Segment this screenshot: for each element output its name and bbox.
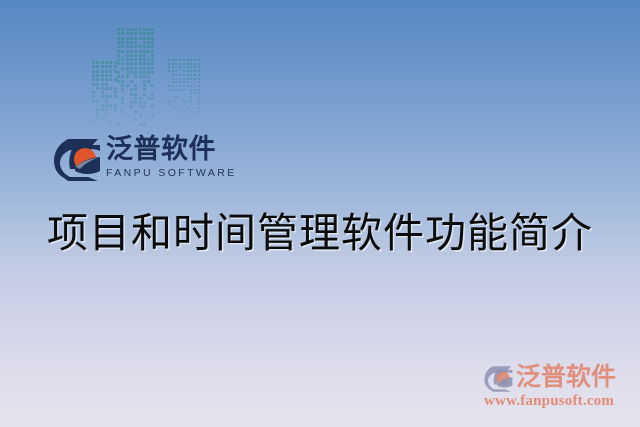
logo-chinese-name: 泛普软件	[106, 135, 234, 165]
watermark-logo-mark-icon	[484, 365, 514, 393]
fanpu-logo-wordmark: 泛普软件 FANPU SOFTWARE	[106, 135, 234, 180]
fanpu-watermark: 泛普软件 www.fanpusoft.com	[482, 363, 632, 415]
logo-english-name: FANPU SOFTWARE	[106, 166, 234, 180]
watermark-chinese-name: 泛普软件	[516, 362, 616, 392]
fanpu-logo-mark-icon	[54, 137, 102, 183]
slide-title: 项目和时间管理软件功能简介	[0, 199, 640, 259]
pixel-skyline-icon	[92, 28, 204, 140]
fanpu-logo: 泛普软件 FANPU SOFTWARE	[54, 136, 234, 186]
watermark-url: www.fanpusoft.com	[484, 393, 614, 410]
watermark-logo-row: 泛普软件	[482, 363, 632, 395]
slide-canvas: 泛普软件 FANPU SOFTWARE 项目和时间管理软件功能简介 泛普软件 w…	[0, 0, 640, 427]
